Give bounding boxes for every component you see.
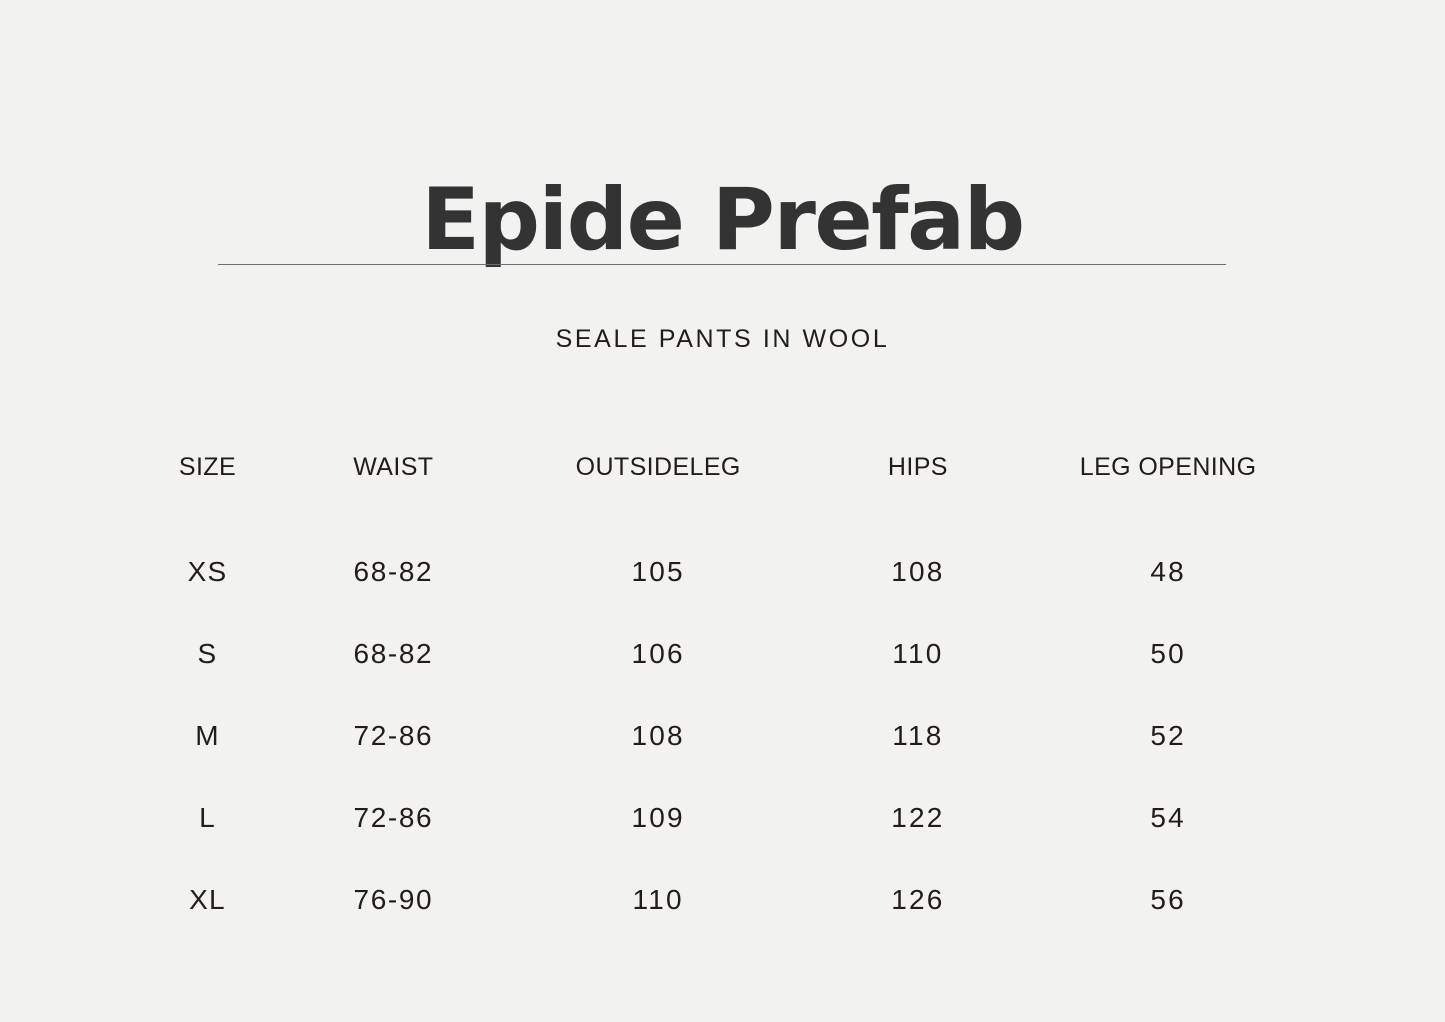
cell-size: S bbox=[140, 613, 275, 695]
cell-outsideleg: 106 bbox=[512, 613, 805, 695]
column-header-outsideleg: OUTSIDELEG bbox=[512, 440, 805, 494]
table-row: XS 68-82 105 108 48 bbox=[140, 494, 1305, 613]
cell-size: M bbox=[140, 695, 275, 777]
column-header-waist: WAIST bbox=[275, 440, 512, 494]
cell-waist: 76-90 bbox=[275, 859, 512, 941]
cell-leg-opening: 54 bbox=[1031, 777, 1305, 859]
cell-hips: 126 bbox=[805, 859, 1032, 941]
cell-size: XS bbox=[140, 494, 275, 613]
cell-outsideleg: 105 bbox=[512, 494, 805, 613]
cell-hips: 118 bbox=[805, 695, 1032, 777]
cell-outsideleg: 108 bbox=[512, 695, 805, 777]
table-row: S 68-82 106 110 50 bbox=[140, 613, 1305, 695]
size-chart-body: XS 68-82 105 108 48 S 68-82 106 110 50 M… bbox=[140, 494, 1305, 941]
table-header-row: SIZE WAIST OUTSIDELEG HIPS LEG OPENING bbox=[140, 440, 1305, 494]
size-chart-table: SIZE WAIST OUTSIDELEG HIPS LEG OPENING X… bbox=[140, 440, 1305, 941]
cell-waist: 72-86 bbox=[275, 695, 512, 777]
table-row: M 72-86 108 118 52 bbox=[140, 695, 1305, 777]
size-guide-page: Epide Prefab SEALE PANTS IN WOOL SIZE WA… bbox=[0, 0, 1445, 1022]
cell-waist: 68-82 bbox=[275, 613, 512, 695]
column-header-hips: HIPS bbox=[805, 440, 1032, 494]
table-row: L 72-86 109 122 54 bbox=[140, 777, 1305, 859]
cell-size: XL bbox=[140, 859, 275, 941]
cell-leg-opening: 56 bbox=[1031, 859, 1305, 941]
cell-hips: 122 bbox=[805, 777, 1032, 859]
cell-waist: 68-82 bbox=[275, 494, 512, 613]
cell-size: L bbox=[140, 777, 275, 859]
brand-title: Epide Prefab bbox=[0, 171, 1445, 270]
cell-outsideleg: 109 bbox=[512, 777, 805, 859]
table-row: XL 76-90 110 126 56 bbox=[140, 859, 1305, 941]
column-header-leg-opening: LEG OPENING bbox=[1031, 440, 1305, 494]
cell-hips: 108 bbox=[805, 494, 1032, 613]
cell-waist: 72-86 bbox=[275, 777, 512, 859]
header-divider bbox=[218, 264, 1226, 265]
cell-leg-opening: 52 bbox=[1031, 695, 1305, 777]
size-chart-header: SIZE WAIST OUTSIDELEG HIPS LEG OPENING bbox=[140, 440, 1305, 494]
column-header-size: SIZE bbox=[140, 440, 275, 494]
product-subtitle: SEALE PANTS IN WOOL bbox=[0, 325, 1445, 354]
cell-leg-opening: 50 bbox=[1031, 613, 1305, 695]
cell-outsideleg: 110 bbox=[512, 859, 805, 941]
cell-hips: 110 bbox=[805, 613, 1032, 695]
cell-leg-opening: 48 bbox=[1031, 494, 1305, 613]
